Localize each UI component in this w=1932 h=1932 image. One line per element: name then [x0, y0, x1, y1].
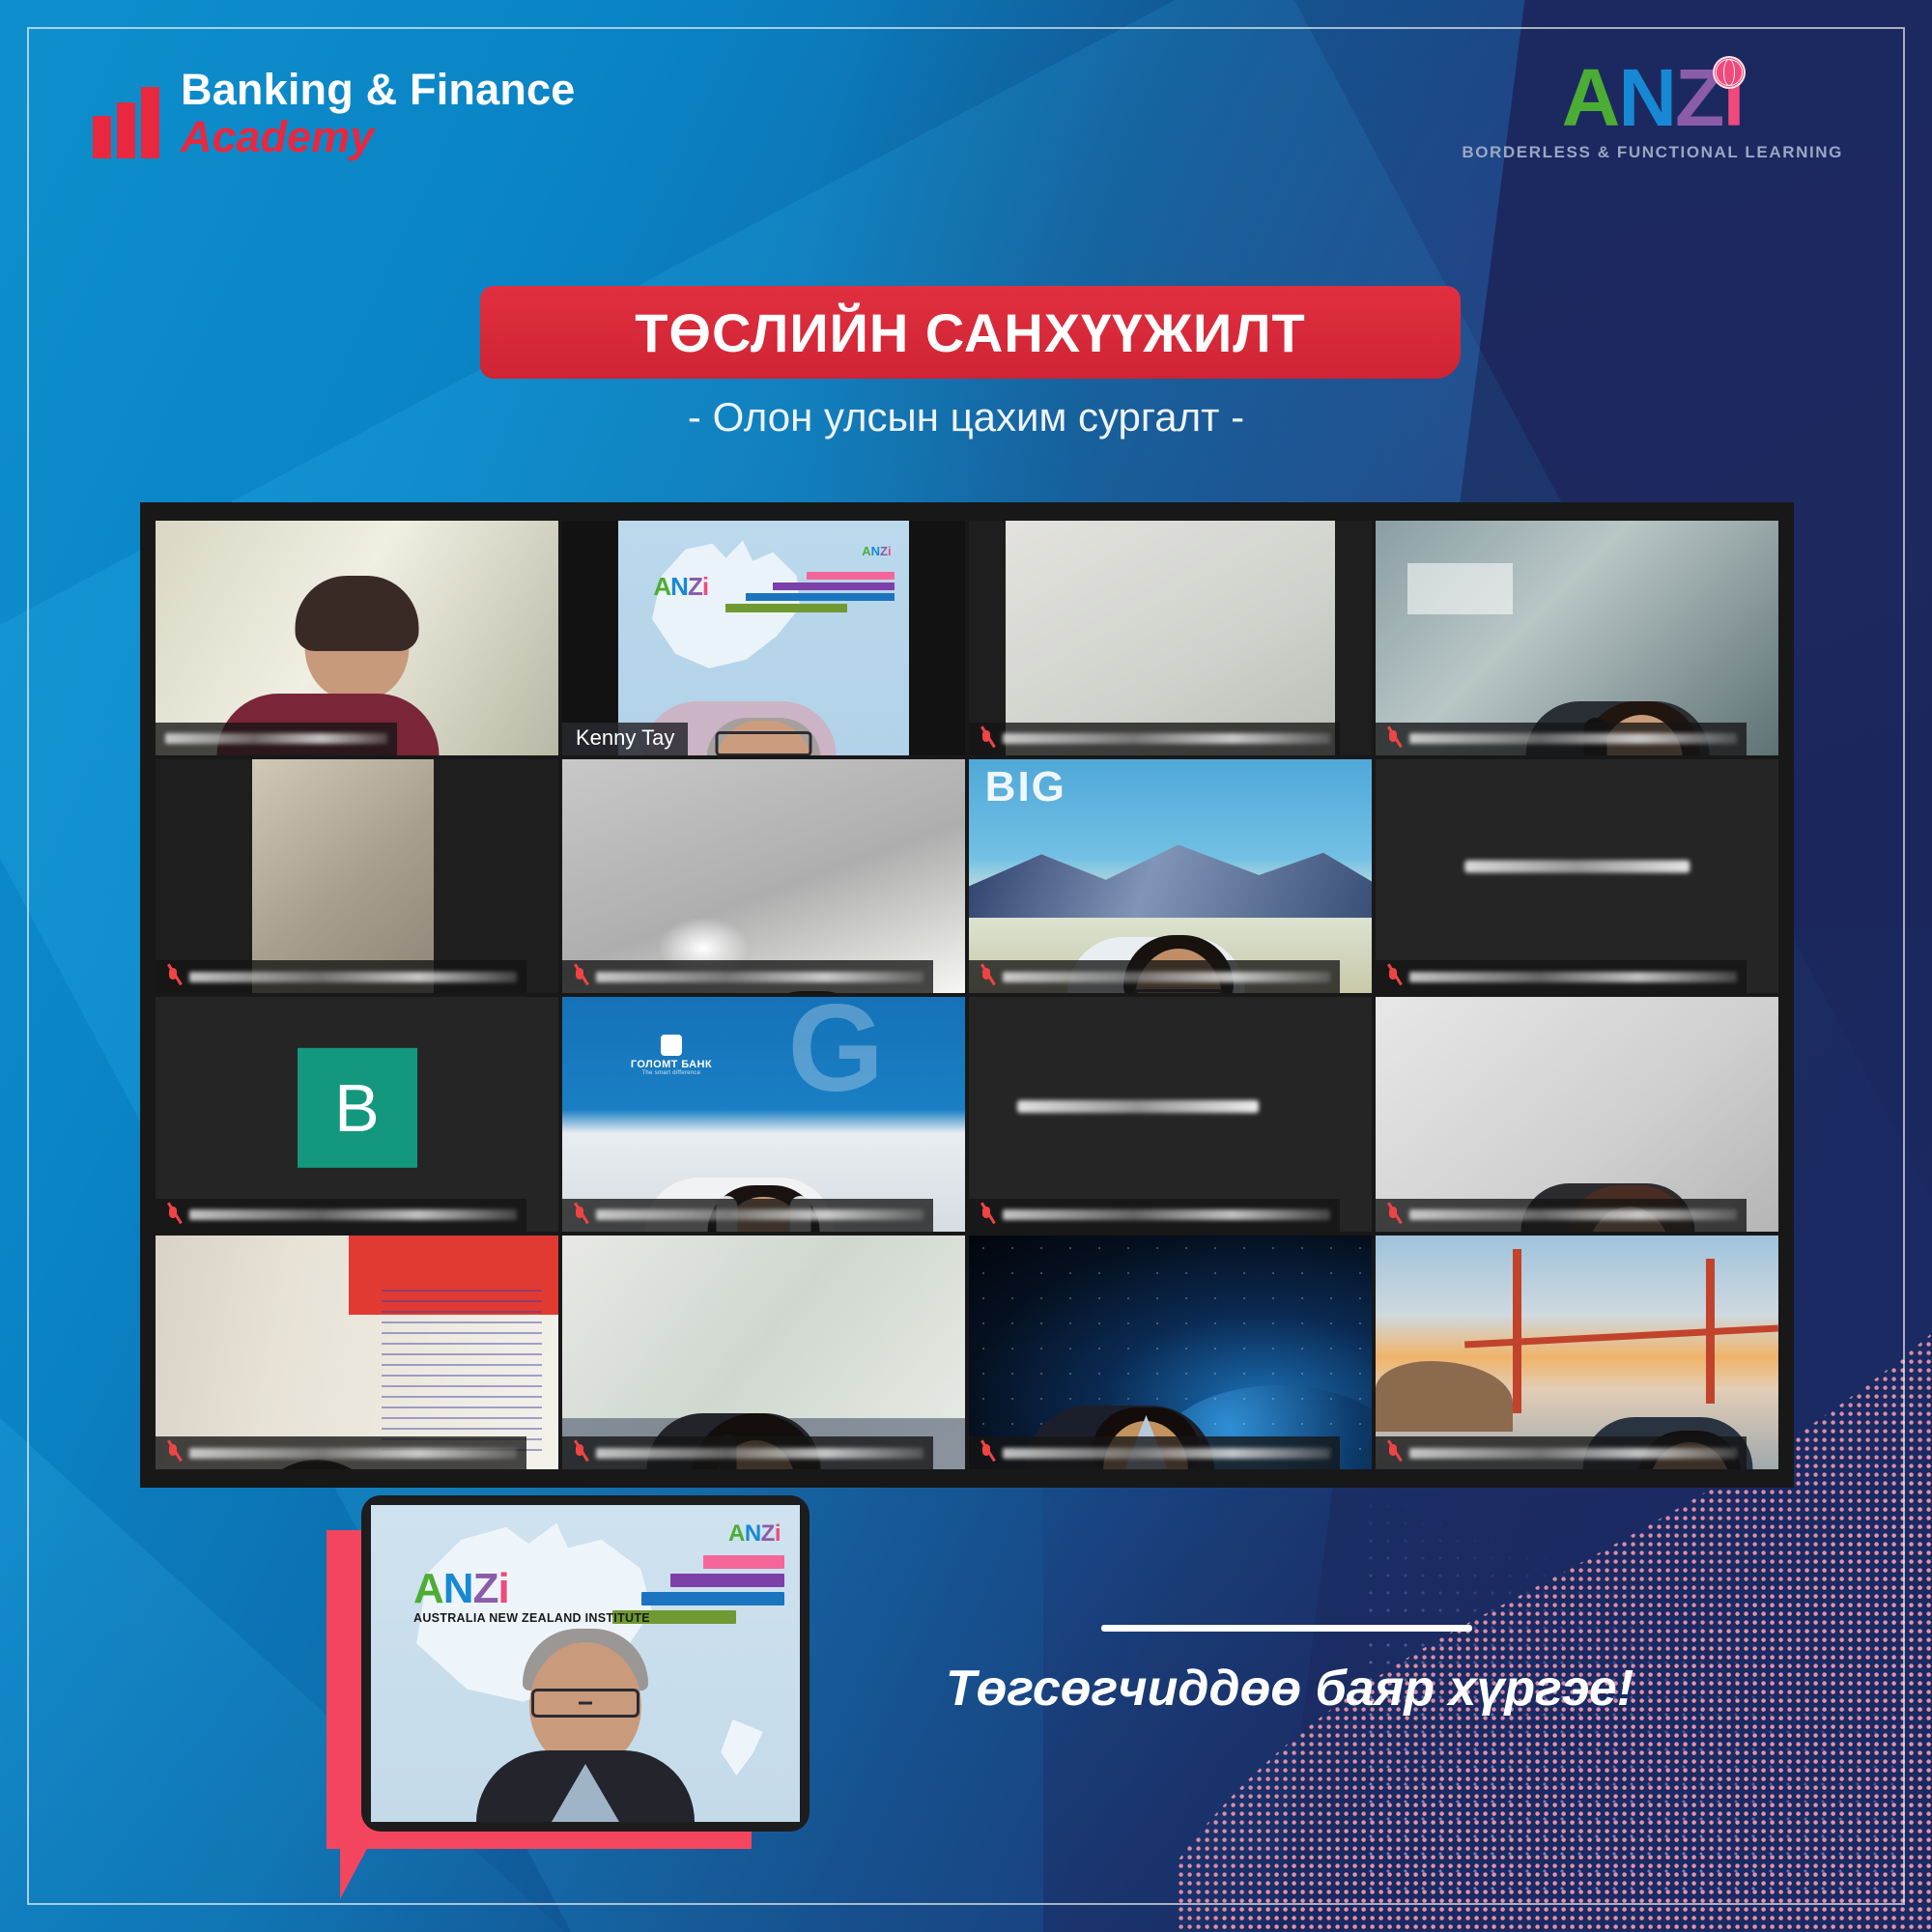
presenter-screen: ANZi ANZi AUSTRALIA NEW ZEALAND INSTITUT… — [361, 1495, 810, 1832]
video-conference-gallery: ANZi ANZi Kenny Tay — [140, 502, 1794, 1488]
participant-tile-5[interactable] — [156, 759, 558, 994]
redacted-center-name — [1017, 1100, 1259, 1113]
anzi-slide-background: ANZi ANZi — [618, 521, 908, 755]
tile-anzi-wordmark: ANZi — [653, 572, 708, 602]
participant-name-bar — [156, 960, 526, 993]
participant-tile-15[interactable] — [969, 1236, 1372, 1470]
participant-tile-3[interactable] — [969, 521, 1372, 755]
tile-video-off — [969, 997, 1372, 1232]
participant-name-bar — [562, 1436, 933, 1469]
anzi-logo: ANZi BORDERLESS & FUNCTIONAL LEARNING — [1462, 60, 1843, 162]
anzi-tagline: BORDERLESS & FUNCTIONAL LEARNING — [1462, 143, 1843, 162]
mic-muted-icon — [1385, 1442, 1402, 1463]
divider-rule — [1101, 1625, 1472, 1632]
mic-muted-icon — [979, 966, 995, 987]
window-reflection — [1407, 563, 1512, 614]
title-banner: ТӨСЛИЙН САНХҮҮЖИЛТ — [480, 286, 1461, 379]
presenter-highlight-card: ANZi ANZi AUSTRALIA NEW ZEALAND INSTITUT… — [327, 1495, 810, 1882]
page-subtitle: - Олон улсын цахим сургалт - — [0, 394, 1932, 440]
participant-tile-6[interactable] — [562, 759, 965, 994]
corner-letter-a: A — [728, 1520, 745, 1547]
participant-name-bar — [1376, 1436, 1747, 1469]
redacted-name — [165, 733, 387, 744]
participant-name-bar — [156, 723, 397, 755]
participant-tile-8-camera-off[interactable] — [1376, 759, 1778, 994]
participant-tile-10[interactable]: G ГОЛОМТ БАНК The smart difference — [562, 997, 965, 1232]
presenter-anzi-wordmark: ANZi — [413, 1565, 509, 1613]
mic-muted-icon — [572, 1205, 588, 1226]
avatar: B — [298, 1048, 417, 1168]
participant-tile-2-active-speaker[interactable]: ANZi ANZi Kenny Tay — [562, 521, 965, 755]
participant-name-bar — [156, 1436, 526, 1469]
participant-name-bar — [969, 1199, 1340, 1232]
mic-muted-icon — [165, 1442, 182, 1463]
participant-tile-13[interactable] — [156, 1236, 558, 1470]
participant-tile-1[interactable] — [156, 521, 558, 755]
mic-muted-icon — [1385, 728, 1402, 750]
redacted-name — [189, 1209, 517, 1220]
globe-icon — [1713, 56, 1746, 89]
bridge-tower-left — [1513, 1249, 1521, 1413]
tile-letterbox — [1006, 521, 1336, 755]
new-zealand-map — [715, 1719, 775, 1776]
redacted-name — [1003, 1209, 1330, 1220]
redacted-name — [596, 1448, 923, 1459]
redacted-name — [189, 1448, 517, 1459]
redacted-center-name — [1464, 861, 1690, 873]
presenter-letter-i: i — [497, 1565, 508, 1612]
presenter-letter-a: A — [413, 1565, 443, 1612]
participant-name-bar — [969, 723, 1340, 755]
mic-muted-icon — [165, 1205, 182, 1226]
mic-muted-icon — [1385, 1205, 1402, 1226]
anzi-letter-n: N — [1618, 52, 1675, 143]
page-title: ТӨСЛИЙН САНХҮҮЖИЛТ — [635, 301, 1306, 364]
participant-figure — [692, 707, 836, 755]
redacted-name — [1003, 733, 1330, 744]
presenter-video: ANZi ANZi AUSTRALIA NEW ZEALAND INSTITUT… — [371, 1505, 800, 1822]
golomt-g-watermark: G — [788, 997, 957, 1133]
tile-video — [562, 759, 965, 994]
participant-name-bar — [562, 960, 933, 993]
participant-tile-11-camera-off[interactable] — [969, 997, 1372, 1232]
academy-logo-line1: Banking & Finance — [181, 68, 575, 111]
mic-muted-icon — [979, 728, 995, 750]
tile-letterbox — [252, 759, 434, 994]
closing-message: Төгсөгчиддөө баяр хүргэе! — [869, 1660, 1710, 1718]
anzi-wordmark: ANZi — [1562, 60, 1744, 137]
redacted-name — [1409, 1209, 1737, 1220]
tile-anzi-corner-mark: ANZi — [862, 544, 891, 558]
mic-muted-icon — [979, 1205, 995, 1226]
participant-name-bar — [1376, 960, 1747, 993]
redacted-name — [1409, 972, 1737, 982]
whiteboard-writing — [382, 1287, 543, 1451]
presenter-letter-z: Z — [473, 1565, 498, 1612]
redacted-name — [189, 972, 517, 982]
academy-logo-line2: Academy — [181, 115, 575, 158]
participant-name-bar — [562, 1199, 933, 1232]
participant-tile-14[interactable] — [562, 1236, 965, 1470]
participant-tile-16[interactable] — [1376, 1236, 1778, 1470]
participant-tile-4[interactable] — [1376, 521, 1778, 755]
presenter-anzi-logo: ANZi AUSTRALIA NEW ZEALAND INSTITUTE — [413, 1565, 650, 1625]
redacted-name — [596, 972, 923, 982]
corner-letter-z: Z — [761, 1520, 775, 1547]
corner-letter-n: N — [745, 1520, 761, 1547]
mic-muted-icon — [165, 966, 182, 987]
tile-bar-graphic — [725, 572, 894, 612]
institute-name: AUSTRALIA NEW ZEALAND INSTITUTE — [413, 1611, 650, 1625]
presenter-letter-n: N — [443, 1565, 473, 1612]
active-speaker-name: Kenny Tay — [562, 723, 688, 755]
mic-muted-icon — [1385, 966, 1402, 987]
participant-name-bar — [1376, 723, 1747, 755]
participant-name-bar — [969, 1436, 1340, 1469]
glasses-icon — [716, 731, 812, 755]
mic-muted-icon — [572, 966, 588, 987]
redacted-name — [1409, 733, 1737, 744]
participant-tile-9-avatar[interactable]: B — [156, 997, 558, 1232]
participant-name-bar — [1376, 1199, 1747, 1232]
mic-muted-icon — [572, 1442, 588, 1463]
presenter-figure — [474, 1629, 696, 1822]
participant-tile-12[interactable] — [1376, 997, 1778, 1232]
redacted-name — [1003, 1448, 1330, 1459]
anzi-letter-a: A — [1562, 52, 1619, 143]
participant-name-bar — [156, 1199, 526, 1232]
participant-grid: ANZi ANZi Kenny Tay — [156, 521, 1778, 1469]
participant-tile-7[interactable]: BIG — [969, 759, 1372, 994]
mic-muted-icon — [979, 1442, 995, 1463]
redacted-name — [596, 1209, 923, 1220]
tile-video-off — [1376, 759, 1778, 994]
participant-name-bar — [969, 960, 1340, 993]
glasses-icon — [531, 1689, 639, 1718]
golomt-bank-logo: ГОЛОМТ БАНК The smart difference — [631, 1035, 712, 1076]
bar-chart-icon — [93, 89, 159, 158]
big-text-overlay: BIG — [985, 763, 1066, 811]
redacted-name — [1409, 1448, 1737, 1459]
corner-letter-i: i — [775, 1520, 781, 1547]
redacted-name — [1003, 972, 1330, 982]
presenter-anzi-corner-logo: ANZi — [728, 1520, 781, 1548]
banking-finance-academy-logo: Banking & Finance Academy — [93, 68, 575, 158]
